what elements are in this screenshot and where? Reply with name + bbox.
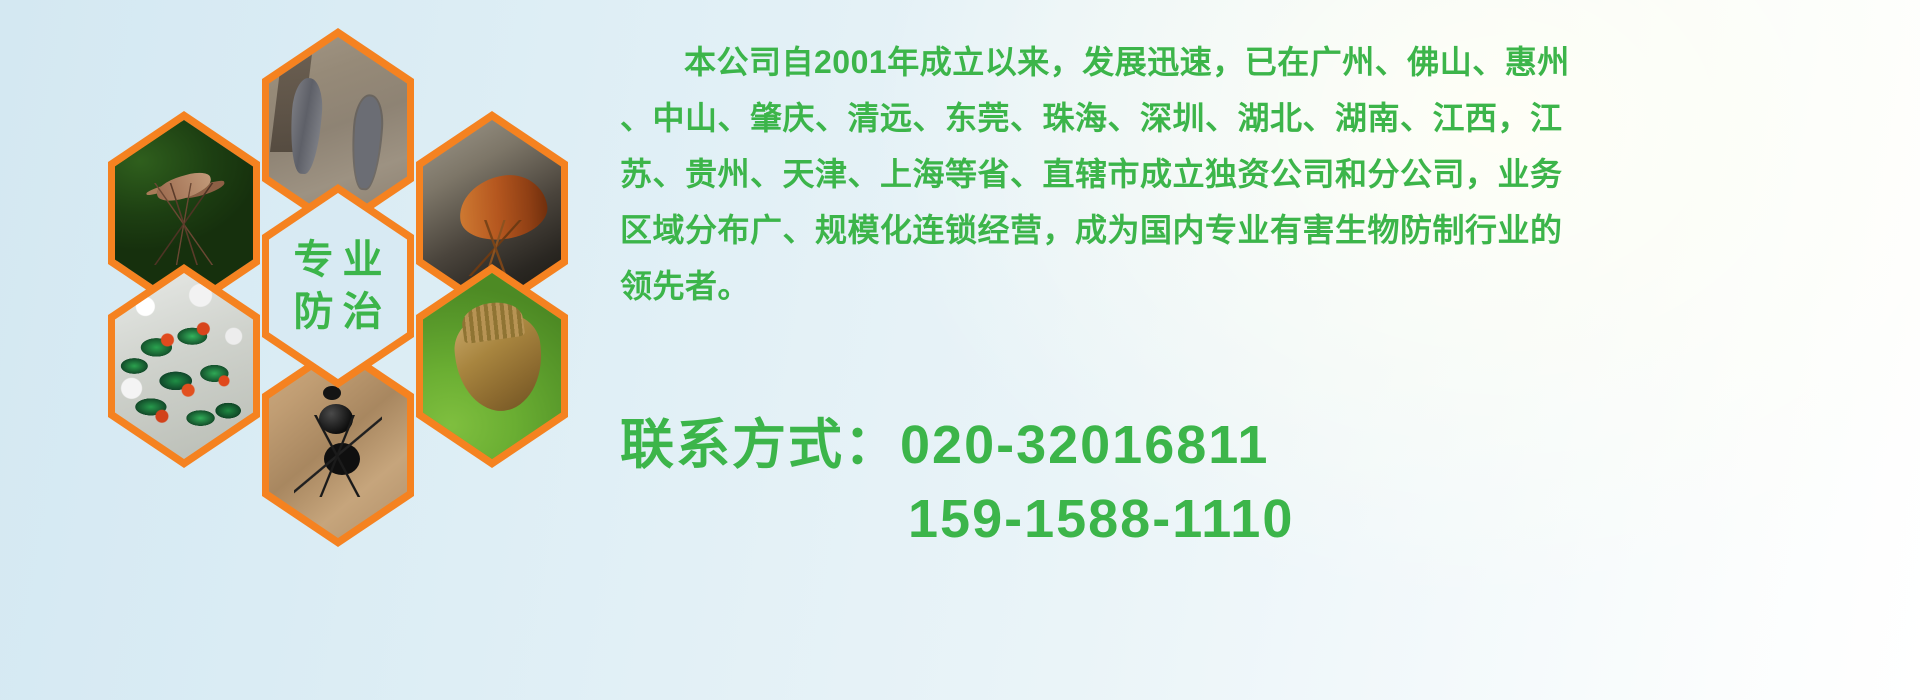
hex-photo-flies[interactable] [108,264,260,468]
contact-phone-primary[interactable]: 联系方式：020-32016811 [620,408,1900,482]
hex-photo-flies-inner [115,273,253,459]
company-description: 本公司自2001年成立以来，发展迅速，已在广州、佛山、惠州 、中山、肇庆、清远、… [620,34,1900,314]
flies-photo [115,273,253,459]
description-line-3: 苏、贵州、天津、上海等省、直辖市成立独资公司和分公司，业务 [620,146,1900,202]
description-line-2: 、中山、肇庆、清远、东莞、珠海、深圳、湖北、湖南、江西，江 [620,90,1900,146]
description-line-4: 区域分布广、规模化连锁经营，成为国内专业有害生物防制行业的 [620,202,1900,258]
contact-block: 联系方式：020-32016811 159-1588-1110 [620,408,1900,556]
contact-phone-secondary[interactable]: 159-1588-1110 [620,482,1900,556]
hex-slogan: 专业 防治 [262,184,414,388]
hex-photo-stinkbug-inner [423,273,561,459]
pest-control-banner: 专业 防治 本公司自2001年成立以来，发展迅速，已在广州、佛山、惠州 、中山、… [0,0,1920,700]
slogan-line-2: 防治 [285,292,392,332]
slogan-line-1: 专业 [285,240,392,280]
description-line-5: 领先者。 [620,258,1900,314]
hex-photo-stinkbug[interactable] [416,264,568,468]
stinkbug-photo [423,273,561,459]
description-line-1: 本公司自2001年成立以来，发展迅速，已在广州、佛山、惠州 [620,34,1900,90]
honeycomb-photo-cluster: 专业 防治 [88,6,588,566]
hex-slogan-inner: 专业 防治 [269,193,407,379]
